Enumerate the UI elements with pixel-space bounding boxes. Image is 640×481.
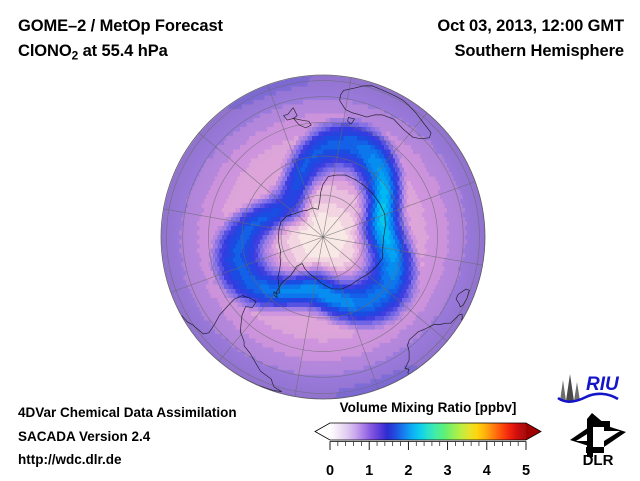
colorbar-tick-2: 2 <box>404 463 412 479</box>
riu-spires-icon <box>560 374 580 401</box>
colorbar-tick-4: 4 <box>483 463 491 479</box>
pressure-level-label: at 55.4 hPa <box>78 42 168 60</box>
orthographic-projection-plot <box>159 73 487 401</box>
riu-logo: RIU <box>556 371 634 405</box>
dlr-propeller-icon <box>570 413 626 457</box>
colorbar-tick-3: 3 <box>444 463 452 479</box>
header-right: Oct 03, 2013, 12:00 GMT Southern Hemisph… <box>294 14 624 64</box>
colorbar-gradient <box>312 421 544 465</box>
globe-map <box>159 73 487 401</box>
colorbar-tick-1: 1 <box>365 463 373 479</box>
colorbar-tick-5: 5 <box>522 463 530 479</box>
dlr-logo: DLR <box>562 410 634 468</box>
colorbar-tick-labels: 012345 <box>312 463 544 481</box>
species-label: ClONO <box>18 42 72 60</box>
colorbar-tick-0: 0 <box>326 463 334 479</box>
figure-canvas: GOME–2 / MetOp Forecast ClONO2 at 55.4 h… <box>0 0 640 480</box>
dlr-wordmark: DLR <box>583 452 614 468</box>
version-label: SACADA Version 2.4 <box>18 425 318 449</box>
footer-credits: 4DVar Chemical Data Assimilation SACADA … <box>18 401 318 472</box>
website-link[interactable]: http://wdc.dlr.de <box>18 448 318 472</box>
timestamp-label: Oct 03, 2013, 12:00 GMT <box>294 14 624 39</box>
riu-wordmark: RIU <box>586 374 620 395</box>
colorbar-title: Volume Mixing Ratio [ppbv] <box>312 400 544 415</box>
region-label: Southern Hemisphere <box>294 39 624 64</box>
method-label: 4DVar Chemical Data Assimilation <box>18 401 318 425</box>
colorbar: Volume Mixing Ratio [ppbv] 012345 <box>312 400 544 481</box>
